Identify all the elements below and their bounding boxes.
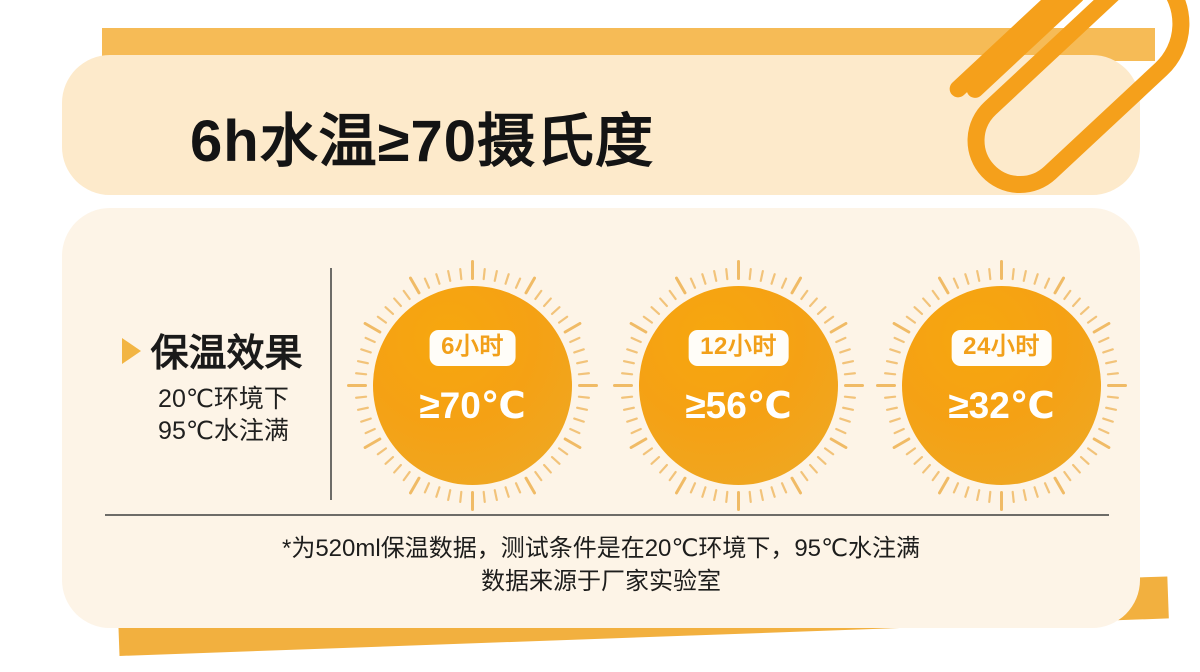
metric-label-block: 保温效果 20℃环境下 95℃水注满 — [100, 322, 325, 447]
metric-label-sub-line2: 95℃水注满 — [122, 415, 325, 447]
duration-badge: 6小时 — [429, 330, 516, 366]
footnote: *为520ml保温数据，测试条件是在20℃环境下，95℃水注满 数据来源于厂家实… — [62, 532, 1140, 598]
paperclip-icon — [908, 0, 1200, 262]
page-title: 6h水温≥70摄氏度 — [190, 94, 654, 178]
vertical-divider — [330, 268, 332, 500]
footnote-line2: 数据来源于厂家实验室 — [62, 565, 1140, 598]
poster-root: 6h水温≥70摄氏度 保温效果 20℃环境下 95℃水注满 6小时 ≥70℃ — [0, 0, 1200, 672]
metric-label-heading: 保温效果 — [150, 322, 302, 377]
temperature-value: ≥70℃ — [419, 384, 525, 427]
footnote-line1: *为520ml保温数据，测试条件是在20℃环境下，95℃水注满 — [62, 532, 1140, 565]
circle-item: 6小时 ≥70℃ — [345, 258, 600, 513]
metric-label-sub: 20℃环境下 95℃水注满 — [100, 383, 325, 447]
duration-badge: 24小时 — [951, 330, 1052, 366]
temperature-value: ≥32℃ — [948, 384, 1054, 427]
circles-group: 6小时 ≥70℃ 12小时 ≥56℃ 24小时 ≥32℃ — [345, 258, 1135, 513]
metric-label-heading-row: 保温效果 — [100, 322, 325, 377]
metric-label-sub-line1: 20℃环境下 — [122, 383, 325, 415]
horizontal-divider — [105, 514, 1109, 516]
triangle-marker-icon — [122, 338, 141, 364]
circle-item: 12小时 ≥56℃ — [611, 258, 866, 513]
temperature-value: ≥56℃ — [685, 384, 791, 427]
duration-badge: 12小时 — [688, 330, 789, 366]
circle-item: 24小时 ≥32℃ — [874, 258, 1129, 513]
